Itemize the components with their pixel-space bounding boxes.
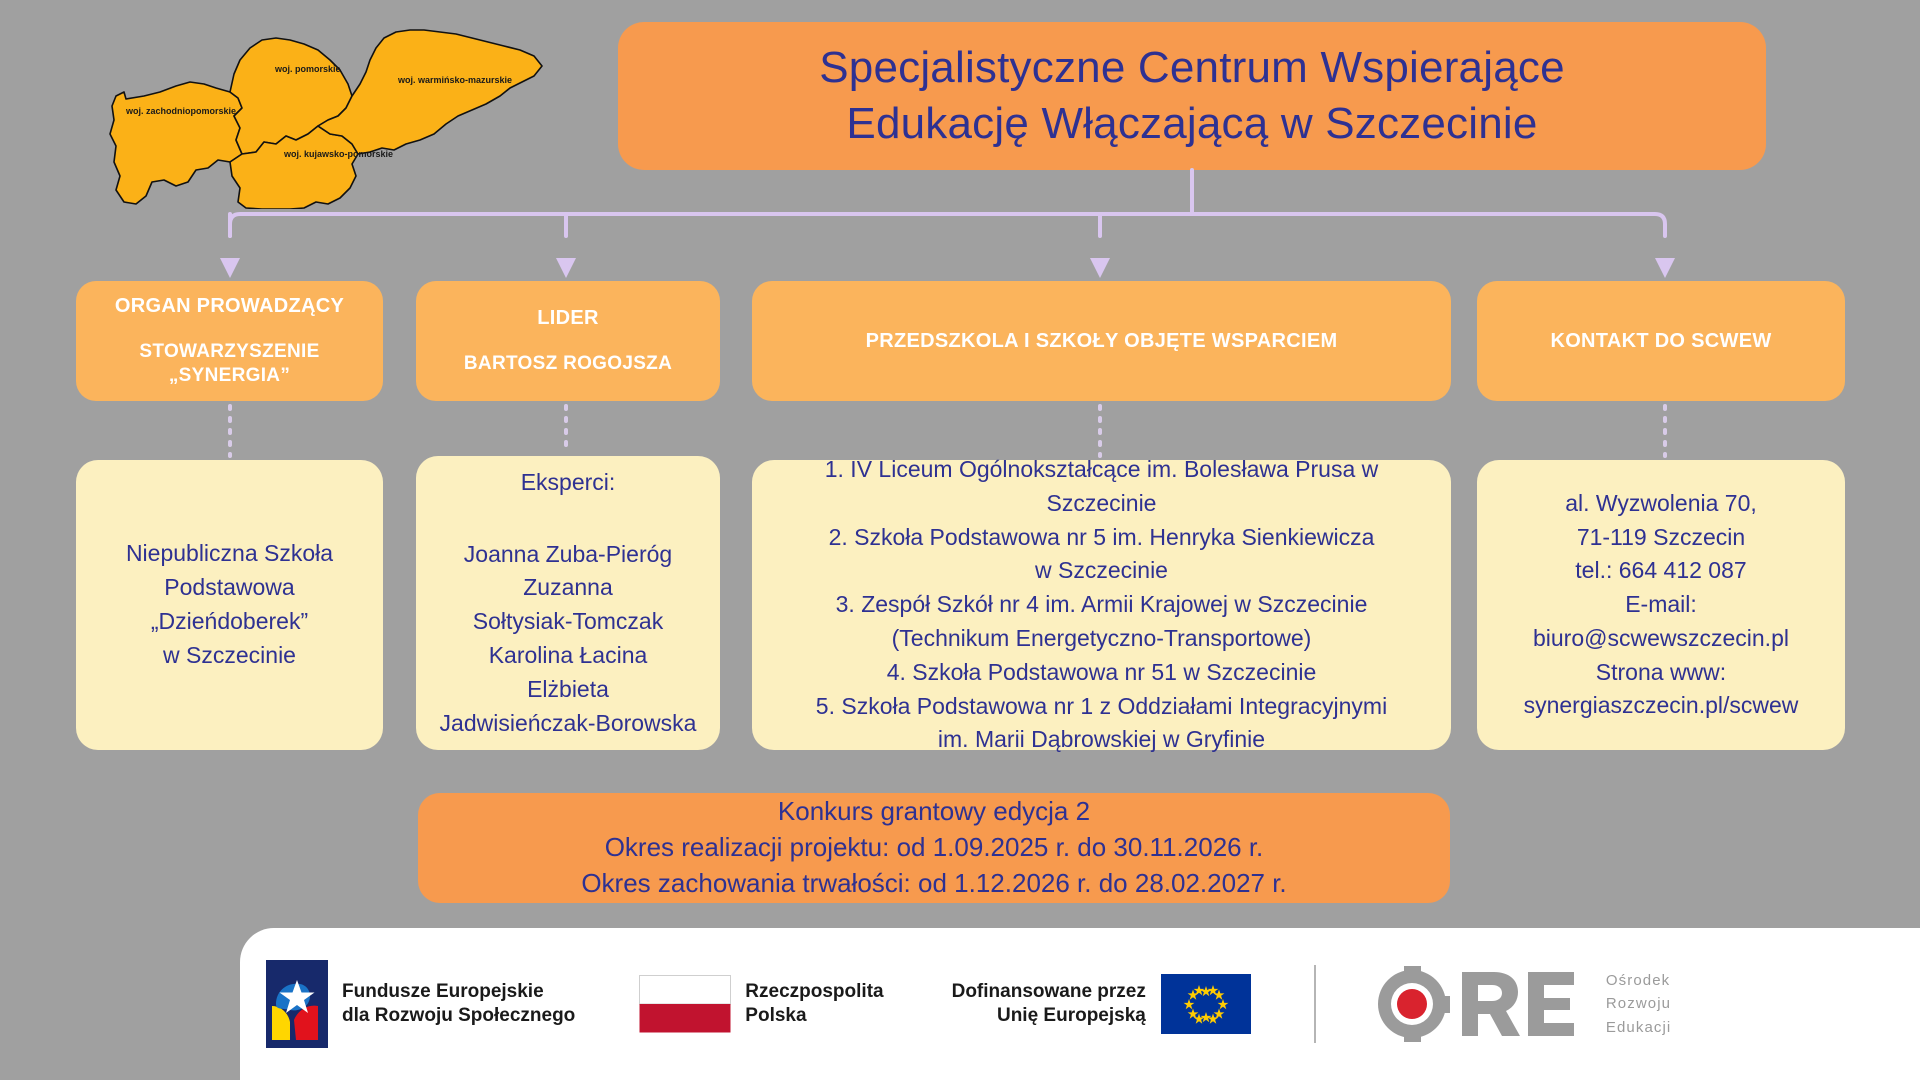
arrow-head-organ xyxy=(220,258,240,278)
header-lider-title: LIDER xyxy=(537,307,599,330)
polish-flag-icon xyxy=(639,975,731,1033)
logo-fundusze-europejskie: Fundusze Europejskie dla Rozwoju Społecz… xyxy=(266,960,575,1048)
szkoly-body-text: 1. IV Liceum Ogólnokształcące im. Bolesł… xyxy=(768,453,1435,757)
header-kontakt-title: KONTAKT DO SCWEW xyxy=(1550,330,1771,353)
lider-body-text: Joanna Zuba-Pieróg Zuzanna Sołtysiak-Tom… xyxy=(440,538,697,741)
lider-body-lead: Eksperci: xyxy=(521,466,616,500)
content-box-szkoly-list: 1. IV Liceum Ogólnokształcące im. Bolesł… xyxy=(752,460,1451,750)
footer-divider xyxy=(1314,965,1316,1043)
header-box-organ-prowadzacy[interactable]: ORGAN PROWADZĄCY STOWARZYSZENIE „SYNERGI… xyxy=(76,281,383,401)
header-box-przedszkola-szkoly[interactable]: PRZEDSZKOLA I SZKOŁY OBJĘTE WSPARCIEM xyxy=(752,281,1451,401)
page-title: Specjalistyczne Centrum Wspierające Eduk… xyxy=(819,40,1565,153)
dofinansowanie-label: Dofinansowane przez Unię Europejską xyxy=(952,980,1146,1028)
map-label-kujawsko-pomorskie: woj. kujawsko-pomorskie xyxy=(283,149,393,159)
content-box-organ-prowadzacy: Niepubliczna Szkoła Podstawowa „Dzieńdob… xyxy=(76,460,383,750)
ore-fullname-label: Ośrodek Rozwoju Edukacji xyxy=(1606,969,1672,1039)
organ-body-text: Niepubliczna Szkoła Podstawowa „Dzieńdob… xyxy=(126,537,333,672)
main-title-banner: Specjalistyczne Centrum Wspierające Eduk… xyxy=(618,22,1766,170)
map-northern-poland: woj. zachodniopomorskie woj. pomorskie w… xyxy=(90,4,560,209)
rzeczpospolita-label: Rzeczpospolita Polska xyxy=(745,980,883,1028)
arrow-head-lider xyxy=(556,258,576,278)
fundusze-europejskie-label: Fundusze Europejskie dla Rozwoju Społecz… xyxy=(342,980,575,1028)
arrow-head-kontakt xyxy=(1655,258,1675,278)
ore-logo-icon xyxy=(1374,966,1592,1042)
eu-flag-icon xyxy=(1160,974,1252,1034)
kontakt-body-text: al. Wyzwolenia 70, 71-119 Szczecin tel.:… xyxy=(1524,487,1799,724)
header-organ-subtitle: STOWARZYSZENIE „SYNERGIA” xyxy=(139,340,319,388)
header-szkoly-title: PRZEDSZKOLA I SZKOŁY OBJĘTE WSPARCIEM xyxy=(866,330,1338,353)
map-label-pomorskie: woj. pomorskie xyxy=(274,64,341,74)
map-label-zachodniopomorskie: woj. zachodniopomorskie xyxy=(125,106,236,116)
header-box-kontakt[interactable]: KONTAKT DO SCWEW xyxy=(1477,281,1845,401)
infographic-poster: woj. zachodniopomorskie woj. pomorskie w… xyxy=(0,0,1920,1080)
logo-dofinansowane-ue: Dofinansowane przez Unię Europejską xyxy=(952,974,1252,1034)
footer-logos-bar: Fundusze Europejskie dla Rozwoju Społecz… xyxy=(240,928,1920,1080)
bottom-banner-konkurs: Konkurs grantowy edycja 2 Okres realizac… xyxy=(418,793,1450,903)
logo-ore: Ośrodek Rozwoju Edukacji xyxy=(1374,966,1672,1042)
bottom-banner-text: Konkurs grantowy edycja 2 Okres realizac… xyxy=(581,794,1286,902)
arrow-head-szkoly xyxy=(1090,258,1110,278)
map-label-warminsko-mazurskie: woj. warmińsko-mazurskie xyxy=(397,75,512,85)
header-organ-title: ORGAN PROWADZĄCY xyxy=(115,295,344,318)
header-box-lider[interactable]: LIDER BARTOSZ ROGOJSZA xyxy=(416,281,720,401)
content-box-kontakt-dane: al. Wyzwolenia 70, 71-119 Szczecin tel.:… xyxy=(1477,460,1845,750)
header-lider-subtitle: BARTOSZ ROGOJSZA xyxy=(464,352,672,376)
fundusze-europejskie-icon xyxy=(266,960,328,1048)
content-box-lider-eksperci: Eksperci: Joanna Zuba-Pieróg Zuzanna Soł… xyxy=(416,456,720,750)
logo-rzeczpospolita-polska: Rzeczpospolita Polska xyxy=(639,975,883,1033)
